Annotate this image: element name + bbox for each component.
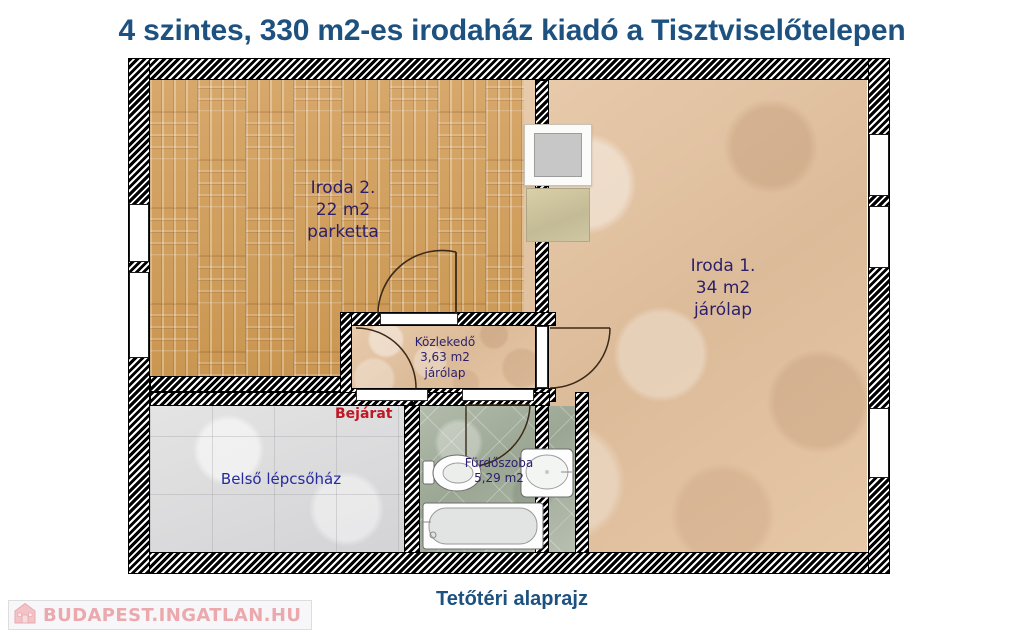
skylight-lower-panel — [526, 188, 590, 242]
floorplan-page: 4 szintes, 330 m2-es irodaház kiadó a Ti… — [0, 0, 1024, 638]
window-right-upper — [869, 134, 889, 196]
door-gap-iroda2 — [380, 313, 458, 325]
room-lepcsohaz-floor — [150, 406, 412, 553]
wall-iroda2-bottom — [150, 376, 350, 392]
wall-bathroom-right — [575, 392, 589, 553]
skylight-window — [524, 124, 592, 186]
door-gap-bathroom-corridor — [462, 389, 534, 401]
skylight-pane — [534, 133, 582, 177]
entrance-label: Bejárat — [335, 406, 392, 422]
watermark: BUDAPEST.INGATLAN.HU — [8, 600, 312, 630]
door-gap-entrance — [356, 389, 428, 401]
wall-exterior-top — [128, 58, 890, 80]
wall-kozlekedo-left — [340, 312, 352, 402]
wall-exterior-bottom — [128, 552, 890, 574]
sink-fixture — [520, 448, 576, 498]
window-right-middle — [869, 206, 889, 268]
window-left-iroda2 — [129, 204, 149, 262]
watermark-text: BUDAPEST.INGATLAN.HU — [43, 605, 301, 626]
door-gap-iroda1 — [536, 326, 548, 388]
bathtub-fixture — [422, 502, 544, 550]
window-right-lower — [869, 408, 889, 478]
room-kozlekedo-floor — [350, 326, 550, 388]
wall-stairwell-bathroom — [404, 392, 420, 553]
house-icon — [14, 602, 36, 629]
page-title: 4 szintes, 330 m2-es irodaház kiadó a Ti… — [0, 14, 1024, 48]
window-left-iroda2-lower — [129, 272, 149, 358]
floorplan-canvas: Iroda 2. 22 m2 parketta Iroda 1. 34 m2 j… — [128, 58, 890, 574]
toilet-fixture — [422, 452, 484, 494]
